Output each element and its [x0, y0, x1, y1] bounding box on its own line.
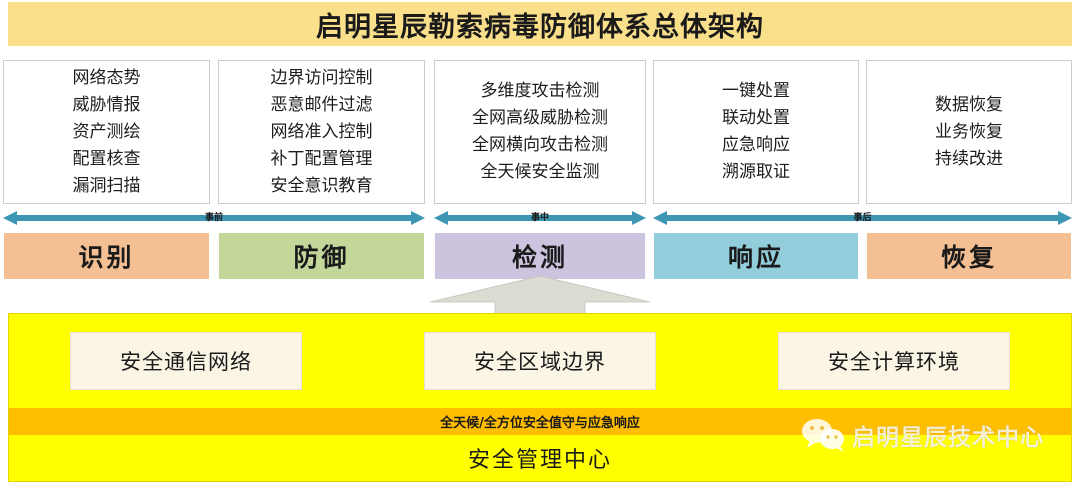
platform-box-boundary[interactable]: 安全区域边界 — [424, 332, 656, 390]
double-arrow-icon — [3, 209, 425, 227]
security-platform: 安全通信网络 安全区域边界 安全计算环境 全天候/全方位安全值守与应急响应 安全… — [8, 313, 1072, 482]
capability-card-protect: 边界访问控制 恶意邮件过滤 网络准入控制 补丁配置管理 安全意识教育 — [218, 60, 425, 204]
capability-item: 全网高级威胁检测 — [472, 110, 608, 127]
double-arrow-icon — [434, 209, 646, 227]
timeline-arrow-during: 事中 — [434, 209, 646, 227]
phase-label: 恢复 — [941, 238, 997, 274]
security-management-center: 安全管理中心 — [9, 435, 1071, 481]
capability-item: 数据恢复 — [935, 97, 1003, 114]
duty-band: 全天候/全方位安全值守与应急响应 — [9, 408, 1071, 435]
capability-item: 威胁情报 — [73, 97, 141, 114]
platform-box-row: 安全通信网络 安全区域边界 安全计算环境 — [9, 332, 1071, 390]
diagram-title-bar: 启明星辰勒索病毒防御体系总体架构 — [8, 2, 1072, 46]
phase-label: 防御 — [293, 238, 349, 274]
capability-item: 安全意识教育 — [271, 178, 373, 195]
platform-box-label: 安全区域边界 — [474, 346, 606, 376]
platform-box-communication[interactable]: 安全通信网络 — [70, 332, 302, 390]
page-title: 启明星辰勒索病毒防御体系总体架构 — [316, 5, 764, 44]
phase-label: 响应 — [728, 238, 784, 274]
phase-bar-recover[interactable]: 恢复 — [866, 232, 1072, 280]
capability-item: 多维度攻击检测 — [481, 83, 600, 100]
security-center-label: 安全管理中心 — [468, 442, 612, 474]
phase-bar-identify[interactable]: 识别 — [3, 232, 210, 280]
phase-bar-detect[interactable]: 检测 — [434, 232, 646, 280]
phase-bar-protect[interactable]: 防御 — [218, 232, 425, 280]
capability-card-identify: 网络态势 威胁情报 资产测绘 配置核查 漏洞扫描 — [3, 60, 210, 204]
capability-item: 持续改进 — [935, 151, 1003, 168]
capability-item: 网络准入控制 — [271, 124, 373, 141]
capability-item: 一键处置 — [722, 83, 790, 100]
capability-item: 网络态势 — [73, 70, 141, 87]
diagram-canvas: 启明星辰勒索病毒防御体系总体架构 网络态势 威胁情报 资产测绘 配置核查 漏洞扫… — [0, 0, 1080, 484]
capability-item: 补丁配置管理 — [271, 151, 373, 168]
duty-band-label: 全天候/全方位安全值守与应急响应 — [440, 412, 640, 431]
capability-item: 溯源取证 — [722, 164, 790, 181]
capability-item: 全天候安全监测 — [481, 164, 600, 181]
phase-bar-respond[interactable]: 响应 — [653, 232, 859, 280]
phase-label: 识别 — [78, 238, 134, 274]
connector-arrow — [430, 276, 650, 318]
capability-item: 联动处置 — [722, 110, 790, 127]
timeline-arrow-before: 事前 — [3, 209, 425, 227]
capability-item: 边界访问控制 — [271, 70, 373, 87]
capability-card-respond: 一键处置 联动处置 应急响应 溯源取证 — [653, 60, 859, 204]
timeline-arrow-after: 事后 — [653, 209, 1072, 227]
capability-item: 应急响应 — [722, 137, 790, 154]
capability-card-recover: 数据恢复 业务恢复 持续改进 — [866, 60, 1072, 204]
platform-box-label: 安全计算环境 — [828, 346, 960, 376]
phase-label: 检测 — [512, 238, 568, 274]
capability-item: 资产测绘 — [73, 124, 141, 141]
platform-box-label: 安全通信网络 — [120, 346, 252, 376]
platform-box-computing[interactable]: 安全计算环境 — [778, 332, 1010, 390]
capability-item: 配置核查 — [73, 151, 141, 168]
double-arrow-icon — [653, 209, 1072, 227]
capability-item: 恶意邮件过滤 — [271, 97, 373, 114]
capability-card-detect: 多维度攻击检测 全网高级威胁检测 全网横向攻击检测 全天候安全监测 — [434, 60, 646, 204]
capability-item: 全网横向攻击检测 — [472, 137, 608, 154]
up-arrow-shape-icon — [430, 276, 650, 318]
capability-item: 业务恢复 — [935, 124, 1003, 141]
capability-item: 漏洞扫描 — [73, 178, 141, 195]
